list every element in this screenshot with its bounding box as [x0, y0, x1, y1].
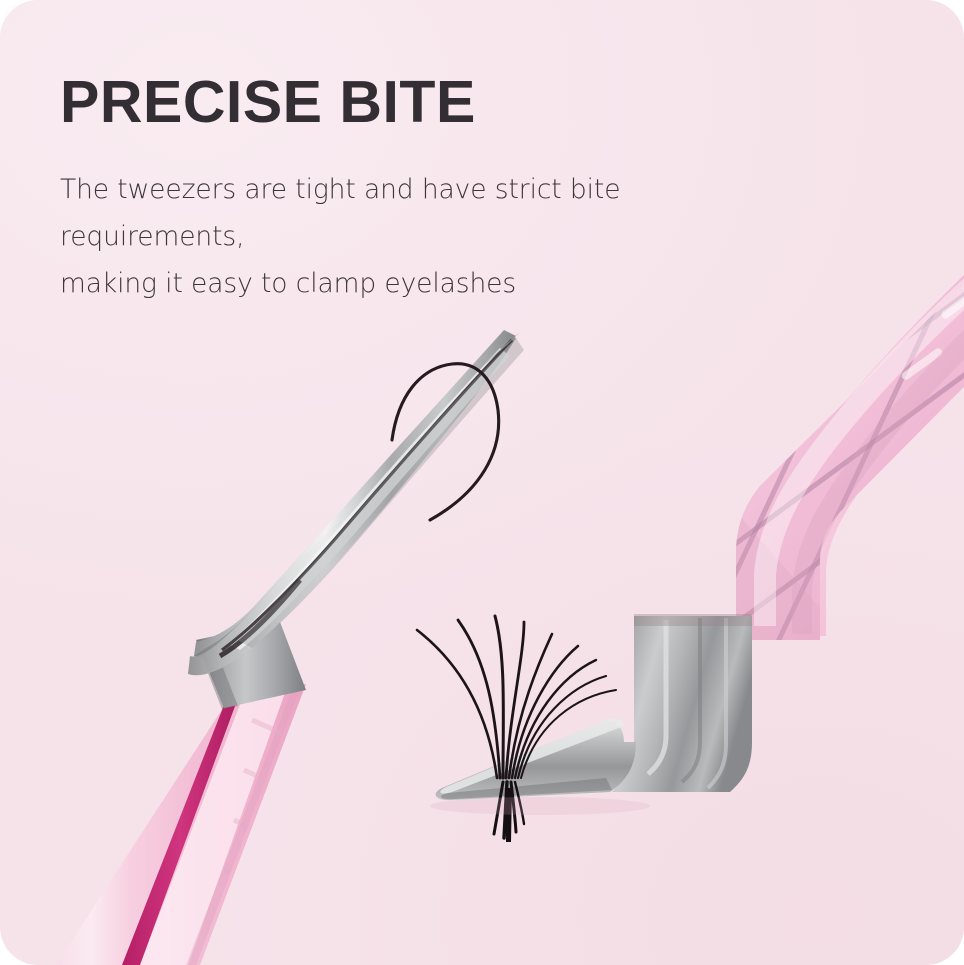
copy-block: PRECISE BITE The tweezers are tight and … [60, 72, 840, 308]
description-line-1: The tweezers are tight and have strict b… [60, 166, 800, 260]
right-tool-material-junction [634, 614, 752, 626]
description-text: The tweezers are tight and have strict b… [60, 166, 800, 307]
product-feature-card: PRECISE BITE The tweezers are tight and … [0, 0, 964, 965]
blade-contact-shadow [430, 797, 650, 815]
page-title: PRECISE BITE [60, 72, 840, 132]
lash-bundle-tip [505, 788, 512, 842]
steel-right-flank-shade [238, 338, 524, 648]
description-line-2: making it easy to clamp eyelashes [60, 260, 800, 307]
